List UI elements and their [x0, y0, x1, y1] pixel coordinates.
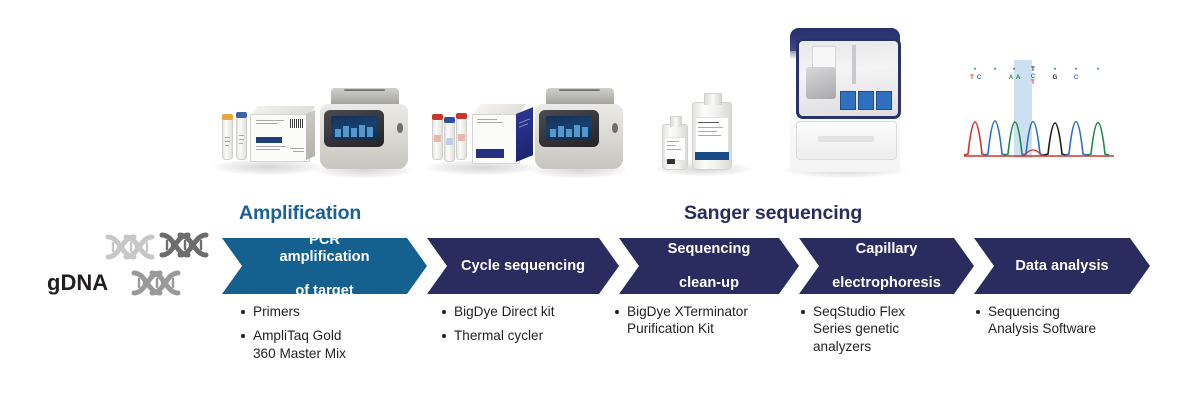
pcr-kit-photo [218, 100, 318, 170]
svg-text:C: C [977, 75, 982, 81]
svg-text:*: * [1054, 68, 1057, 74]
thermal-cycler-photo-2 [533, 88, 625, 172]
bigdye-kit-photo [430, 102, 534, 170]
chevron-label: Data analysis [993, 258, 1130, 275]
list-item: Thermal cycler [441, 327, 621, 344]
bullet-list-pcr-amplification: Primers AmpliTaq Gold360 Master Mix [240, 303, 420, 369]
list-item: Primers [240, 303, 420, 320]
chevron-label: Capillaryelectrophoresis [788, 241, 985, 292]
svg-text:T: T [1031, 67, 1035, 73]
workflow-diagram: *TC * *AA TCT *G *C * [0, 0, 1200, 400]
list-item: AmpliTaq Gold360 Master Mix [240, 327, 420, 362]
svg-text:T: T [970, 75, 974, 81]
thermal-cycler-photo-1 [318, 88, 410, 172]
list-item: BigDye XTerminatorPurification Kit [614, 303, 799, 338]
chevron-step-sequencing-clean-up[interactable]: Sequencingclean-up [619, 238, 799, 294]
list-item: SeqStudio FlexSeries geneticanalyzers [800, 303, 965, 355]
chevron-label: Sequencingclean-up [624, 241, 795, 292]
bullet-list-sequencing-clean-up: BigDye XTerminatorPurification Kit [614, 303, 799, 345]
heading-amplification: Amplification [239, 202, 361, 225]
chevron-step-capillary-electrophoresis[interactable]: Capillaryelectrophoresis [799, 238, 974, 294]
list-item: BigDye Direct kit [441, 303, 621, 320]
chevron-step-data-analysis[interactable]: Data analysis [974, 238, 1150, 294]
chevron-step-cycle-sequencing[interactable]: Cycle sequencing [427, 238, 619, 294]
chevron-step-pcr-amplification[interactable]: PCR amplificationof target [222, 238, 427, 294]
svg-text:C: C [1074, 75, 1079, 81]
svg-text:*: * [994, 68, 997, 74]
bullet-list-capillary-electrophoresis: SeqStudio FlexSeries geneticanalyzers [800, 303, 965, 362]
genetic-analyzer-photo [790, 28, 900, 172]
heading-sanger-sequencing: Sanger sequencing [684, 202, 862, 225]
chevron-label: Cycle sequencing [439, 258, 607, 275]
list-item: SequencingAnalysis Software [975, 303, 1150, 338]
chevron-label: PCR amplificationof target [222, 232, 427, 300]
reagent-bottles-photo [660, 96, 746, 172]
electropherogram-trace: *TC * *AA TCT *G *C * [962, 58, 1124, 172]
product-image-band: *TC * *AA TCT *G *C * [0, 0, 1200, 196]
svg-text:A: A [1016, 75, 1021, 81]
svg-text:*: * [1075, 68, 1078, 74]
svg-text:T: T [1031, 80, 1035, 86]
svg-text:A: A [1009, 75, 1014, 81]
bullet-list-cycle-sequencing: BigDye Direct kit Thermal cycler [441, 303, 621, 352]
svg-text:*: * [1097, 68, 1100, 74]
workflow-chevron-band: PCR amplificationof target Cycle sequenc… [0, 238, 1200, 294]
bullet-list-data-analysis: SequencingAnalysis Software [975, 303, 1150, 345]
svg-text:*: * [974, 68, 977, 74]
svg-text:G: G [1053, 75, 1058, 81]
